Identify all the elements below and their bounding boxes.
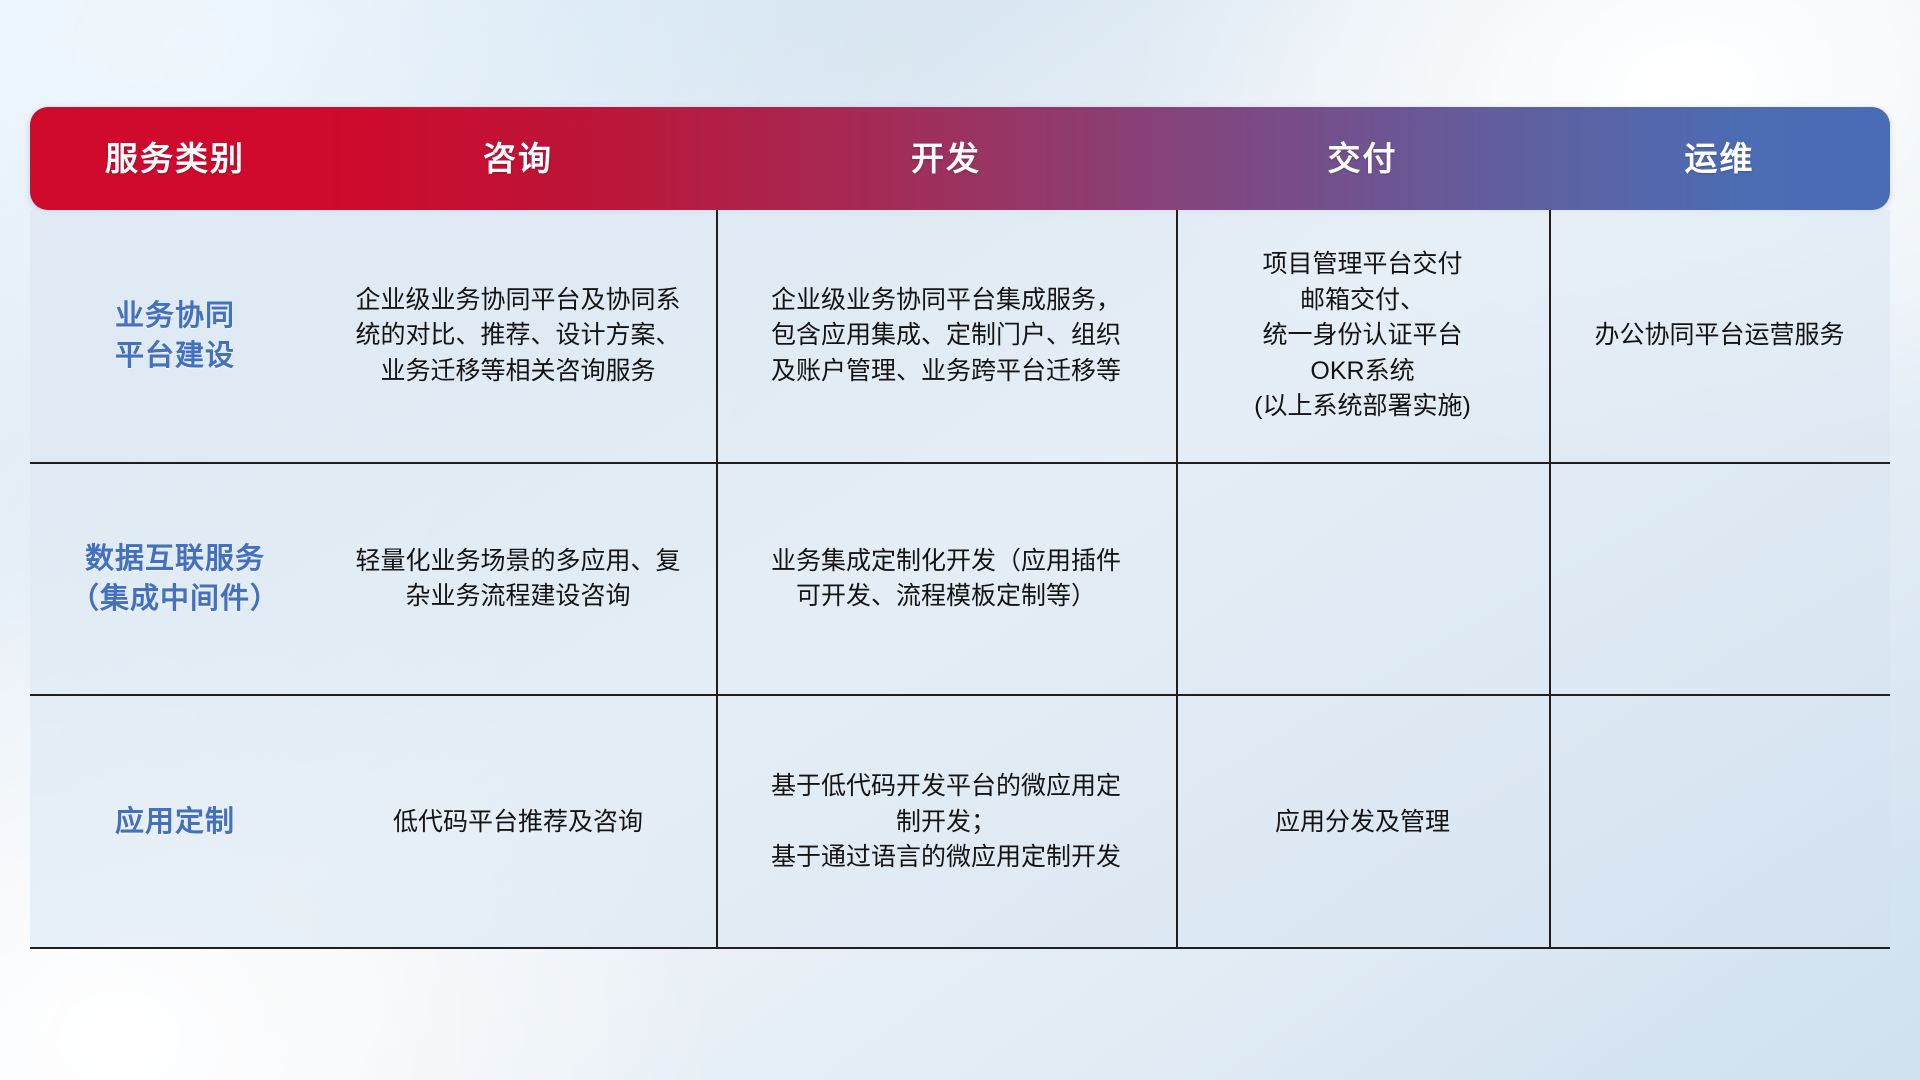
row-label-business-collaboration: 业务协同 平台建设: [30, 296, 320, 376]
table-body: 业务协同 平台建设 企业级业务协同平台及协同系 统的对比、推荐、设计方案、 业务…: [30, 210, 1890, 949]
cell-row1-development: 企业级业务协同平台集成服务， 包含应用集成、定制门户、组织 及账户管理、业务跨平…: [716, 283, 1176, 390]
column-header-consulting: 咨询: [320, 142, 716, 175]
cell-row2-development: 业务集成定制化开发（应用插件 可开发、流程模板定制等）: [716, 544, 1176, 615]
table-row: 业务协同 平台建设 企业级业务协同平台及协同系 统的对比、推荐、设计方案、 业务…: [30, 210, 1890, 464]
cell-row3-development: 基于低代码开发平台的微应用定 制开发； 基于通过语言的微应用定制开发: [716, 769, 1176, 876]
table-row: 应用定制 低代码平台推荐及咨询 基于低代码开发平台的微应用定 制开发； 基于通过…: [30, 696, 1890, 949]
cell-row1-consulting: 企业级业务协同平台及协同系 统的对比、推荐、设计方案、 业务迁移等相关咨询服务: [320, 283, 716, 390]
service-category-table: 服务类别 咨询 开发 交付 运维 业务协同 平台建设 企业级业务协同平台及协同系…: [30, 107, 1890, 947]
column-header-operations: 运维: [1549, 142, 1890, 175]
cell-row3-consulting: 低代码平台推荐及咨询: [320, 805, 716, 841]
column-header-development: 开发: [716, 142, 1176, 175]
row-label-data-interconnection: 数据互联服务 （集成中间件）: [30, 539, 320, 619]
column-header-delivery: 交付: [1176, 142, 1549, 175]
table-row: 数据互联服务 （集成中间件） 轻量化业务场景的多应用、复 杂业务流程建设咨询 业…: [30, 464, 1890, 696]
cell-row1-delivery: 项目管理平台交付 邮箱交付、 统一身份认证平台 OKR系统 (以上系统部署实施): [1176, 247, 1549, 425]
column-header-service-category: 服务类别: [30, 142, 320, 175]
cell-row3-delivery: 应用分发及管理: [1176, 805, 1549, 841]
cell-row1-operations: 办公协同平台运营服务: [1549, 318, 1890, 354]
table-header-row: 服务类别 咨询 开发 交付 运维: [30, 107, 1890, 210]
cell-row2-consulting: 轻量化业务场景的多应用、复 杂业务流程建设咨询: [320, 544, 716, 615]
row-label-application-customization: 应用定制: [30, 802, 320, 842]
